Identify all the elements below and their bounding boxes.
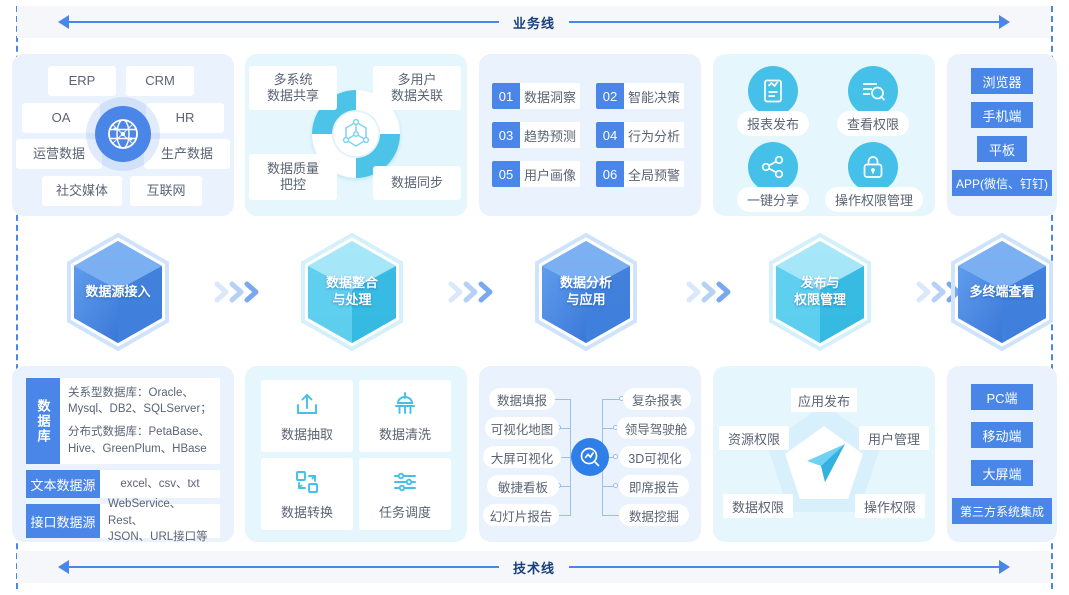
panel-database-sources: 数据库 关系型数据库：Oracle、 Mysql、DB2、SQLServer； … <box>12 366 234 542</box>
numrow-01[interactable]: 01 数据洞察 <box>492 83 580 109</box>
db-line: WebService、Rest、 <box>108 496 212 529</box>
pent-chip-resource-perm[interactable]: 资源权限 <box>719 426 789 450</box>
chevron-arrow-3 <box>684 279 736 305</box>
numrow-index: 01 <box>492 83 520 109</box>
chip-oa[interactable]: OA <box>22 103 100 133</box>
dbrow-key: 接口数据源 <box>26 504 100 538</box>
tile-data-extract[interactable]: 数据抽取 <box>261 380 353 452</box>
analytics-search-icon <box>571 438 609 476</box>
chip-operation-data[interactable]: 运营数据 <box>16 139 102 169</box>
hexagon-data-analysis[interactable]: 数据分析与应用 <box>532 232 640 352</box>
infographic-root: 业务线 技术线 ERP CRM OA HR 运营数据 生产数据 社交媒体 互联网 <box>0 0 1069 595</box>
hexagon-multi-terminal[interactable]: 多终端查看 <box>948 232 1056 352</box>
panel-etl-tools: 数据抽取 数据清洗 数据转换 <box>245 366 467 542</box>
tile-label: 数据抽取 <box>281 424 333 443</box>
mm-chip-slide-report[interactable]: 幻灯片报告 <box>483 504 559 526</box>
arrow-left-icon <box>58 15 69 29</box>
numrow-index: 04 <box>596 122 624 148</box>
chip-internet[interactable]: 互联网 <box>130 176 202 206</box>
tile-task-schedule[interactable]: 任务调度 <box>359 458 451 530</box>
dbrow-api-source[interactable]: 接口数据源 WebService、Rest、 JSON、URL接口等 <box>26 504 220 538</box>
dbrow-value: excel、csv、txt <box>100 470 220 498</box>
chip-line: 多用户 <box>397 72 436 87</box>
tech-line-label: 技术线 <box>499 558 569 577</box>
db-line: excel、csv、txt <box>120 476 199 493</box>
broom-clean-icon <box>391 390 419 418</box>
numrow-index: 03 <box>492 122 520 148</box>
dbrow-key: 数据库 <box>26 378 60 464</box>
tile-data-transform[interactable]: 数据转换 <box>261 458 353 530</box>
upload-box-icon <box>293 390 321 418</box>
item-label: 报表发布 <box>737 111 809 136</box>
item-operation-permission[interactable]: 操作权限管理 <box>825 142 921 212</box>
chip-social-media[interactable]: 社交媒体 <box>42 176 122 206</box>
chip-crm[interactable]: CRM <box>126 66 194 96</box>
panel-terminal-targets: PC端 移动端 大屏端 第三方系统集成 <box>947 366 1057 542</box>
numrow-label: 趋势预测 <box>520 122 580 148</box>
globe-network-icon <box>95 106 151 162</box>
pent-chip-user-mgmt[interactable]: 用户管理 <box>859 426 929 450</box>
chip-line: 数据关联 <box>391 88 443 103</box>
tag-bigscreen[interactable]: 大屏端 <box>971 460 1033 486</box>
tag-app[interactable]: APP(微信、钉钉) <box>952 170 1052 196</box>
chip-production-data[interactable]: 生产数据 <box>144 139 230 169</box>
numrow-06[interactable]: 06 全局预警 <box>596 161 684 187</box>
band-line-right <box>569 21 999 23</box>
tag-mobile-end[interactable]: 移动端 <box>971 422 1033 448</box>
band-line-left-bottom <box>69 566 499 568</box>
mm-chip-leader-cockpit[interactable]: 领导驾驶舱 <box>617 417 695 439</box>
mm-chip-complex-report[interactable]: 复杂报表 <box>623 388 691 410</box>
numrow-label: 用户画像 <box>520 161 580 187</box>
tile-label: 任务调度 <box>379 502 431 521</box>
lock-icon <box>848 142 898 192</box>
chip-multi-system-sharing[interactable]: 多系统数据共享 <box>249 66 337 110</box>
item-view-permission[interactable]: 查看权限 <box>825 66 921 136</box>
chip-line: 把控 <box>280 177 306 192</box>
panel-multi-terminal: 浏览器 手机端 平板 APP(微信、钉钉) <box>947 54 1057 216</box>
numrow-03[interactable]: 03 趋势预测 <box>492 122 580 148</box>
pent-chip-app-publish[interactable]: 应用发布 <box>791 388 857 412</box>
db-line: Mysql、DB2、SQLServer； <box>68 401 212 418</box>
pent-chip-data-perm[interactable]: 数据权限 <box>723 494 793 518</box>
chip-data-sync[interactable]: 数据同步 <box>373 166 461 200</box>
panel-data-sources: ERP CRM OA HR 运营数据 生产数据 社交媒体 互联网 <box>12 54 234 216</box>
node-dot <box>613 454 618 459</box>
node-dot <box>613 483 618 488</box>
chevron-arrow-1 <box>212 279 264 305</box>
mm-chip-data-fill[interactable]: 数据填报 <box>489 388 555 410</box>
search-list-icon <box>848 66 898 116</box>
tag-browser[interactable]: 浏览器 <box>971 68 1033 94</box>
numrow-label: 全局预警 <box>624 161 684 187</box>
arrow-right-icon <box>999 15 1010 29</box>
tag-tablet[interactable]: 平板 <box>977 136 1027 162</box>
tech-line-band: 技术线 <box>17 551 1051 583</box>
dbrow-value: 关系型数据库：Oracle、 Mysql、DB2、SQLServer； 分布式数… <box>60 378 220 464</box>
mm-chip-data-mining[interactable]: 数据挖掘 <box>619 504 689 526</box>
dbrow-value: WebService、Rest、 JSON、URL接口等 <box>100 504 220 538</box>
arrow-right-icon-bottom <box>999 560 1010 574</box>
business-line-label: 业务线 <box>499 13 569 32</box>
numrow-05[interactable]: 05 用户画像 <box>492 161 580 187</box>
tag-mobile[interactable]: 手机端 <box>971 102 1033 128</box>
chip-line: 数据质量 <box>267 161 319 176</box>
numrow-index: 06 <box>596 161 624 187</box>
db-line: JSON、URL接口等 <box>108 529 212 546</box>
tag-third-party[interactable]: 第三方系统集成 <box>952 498 1052 524</box>
dbrow-key: 文本数据源 <box>26 470 100 498</box>
numrow-label: 行为分析 <box>624 122 684 148</box>
band-line-left <box>69 21 499 23</box>
mm-chip-visual-map[interactable]: 可视化地图 <box>485 417 559 439</box>
numrow-04[interactable]: 04 行为分析 <box>596 122 684 148</box>
chip-line: 数据共享 <box>267 88 319 103</box>
chip-data-quality-control[interactable]: 数据质量把控 <box>249 154 337 200</box>
mm-chip-big-screen[interactable]: 大屏可视化 <box>483 446 561 468</box>
hexagon-publish-permission[interactable]: 发布与权限管理 <box>766 232 874 352</box>
chip-line: 多系统 <box>273 72 312 87</box>
report-document-icon <box>748 66 798 116</box>
hexagon-data-integration[interactable]: 数据整合与处理 <box>298 232 406 352</box>
numrow-label: 数据洞察 <box>520 83 580 109</box>
item-report-publish[interactable]: 报表发布 <box>725 66 821 136</box>
chip-hr[interactable]: HR <box>146 103 224 133</box>
panel-data-analysis: 01 数据洞察 02 智能决策 03 趋势预测 04 行为分析 05 用户画像 … <box>479 54 701 216</box>
item-label: 操作权限管理 <box>825 187 923 212</box>
tile-label: 数据转换 <box>281 502 333 521</box>
band-line-right-bottom <box>569 566 999 568</box>
db-line: Hive、GreenPlum、HBase <box>68 441 212 458</box>
mm-chip-agile-board[interactable]: 敏捷看板 <box>487 475 559 497</box>
business-line-band: 业务线 <box>17 6 1051 38</box>
item-label: 一键分享 <box>737 187 809 212</box>
numrow-index: 05 <box>492 161 520 187</box>
numrow-02[interactable]: 02 智能决策 <box>596 83 684 109</box>
chip-erp[interactable]: ERP <box>48 66 116 96</box>
panel-permission-management: 应用发布 资源权限 用户管理 数据权限 操作权限 <box>713 366 935 542</box>
numrow-index: 02 <box>596 83 624 109</box>
dbrow-database[interactable]: 数据库 关系型数据库：Oracle、 Mysql、DB2、SQLServer； … <box>26 378 220 464</box>
numrow-label: 智能决策 <box>624 83 684 109</box>
item-one-click-share[interactable]: 一键分享 <box>725 142 821 212</box>
sliders-schedule-icon <box>391 468 419 496</box>
panel-publish-permission: 报表发布 查看权限 一键分享 <box>713 54 935 216</box>
panel-data-integration: 多系统数据共享 多用户数据关联 数据质量把控 数据同步 <box>245 54 467 216</box>
tile-label: 数据清洗 <box>379 424 431 443</box>
panel-analysis-capabilities: 数据填报 可视化地图 大屏可视化 敏捷看板 幻灯片报告 复杂报表 领导驾驶舱 3… <box>479 366 701 542</box>
item-label: 查看权限 <box>837 111 909 136</box>
share-nodes-icon <box>748 142 798 192</box>
mm-chip-adhoc-report[interactable]: 即席报告 <box>619 475 689 497</box>
chip-multi-user-relation[interactable]: 多用户数据关联 <box>373 66 461 110</box>
hexagon-data-source-access[interactable]: 数据源接入 <box>64 232 172 352</box>
dbrow-text-source[interactable]: 文本数据源 excel、csv、txt <box>26 470 220 498</box>
arrow-left-icon-bottom <box>58 560 69 574</box>
tag-pc[interactable]: PC端 <box>971 384 1033 410</box>
chevron-arrow-2 <box>446 279 498 305</box>
mm-chip-3d-visual[interactable]: 3D可视化 <box>619 446 691 468</box>
db-line: 关系型数据库：Oracle、 <box>68 385 212 402</box>
pent-chip-operation-perm[interactable]: 操作权限 <box>855 494 925 518</box>
transform-swap-icon <box>293 468 321 496</box>
db-line: 分布式数据库：PetaBase、 <box>68 424 212 441</box>
tile-data-clean[interactable]: 数据清洗 <box>359 380 451 452</box>
